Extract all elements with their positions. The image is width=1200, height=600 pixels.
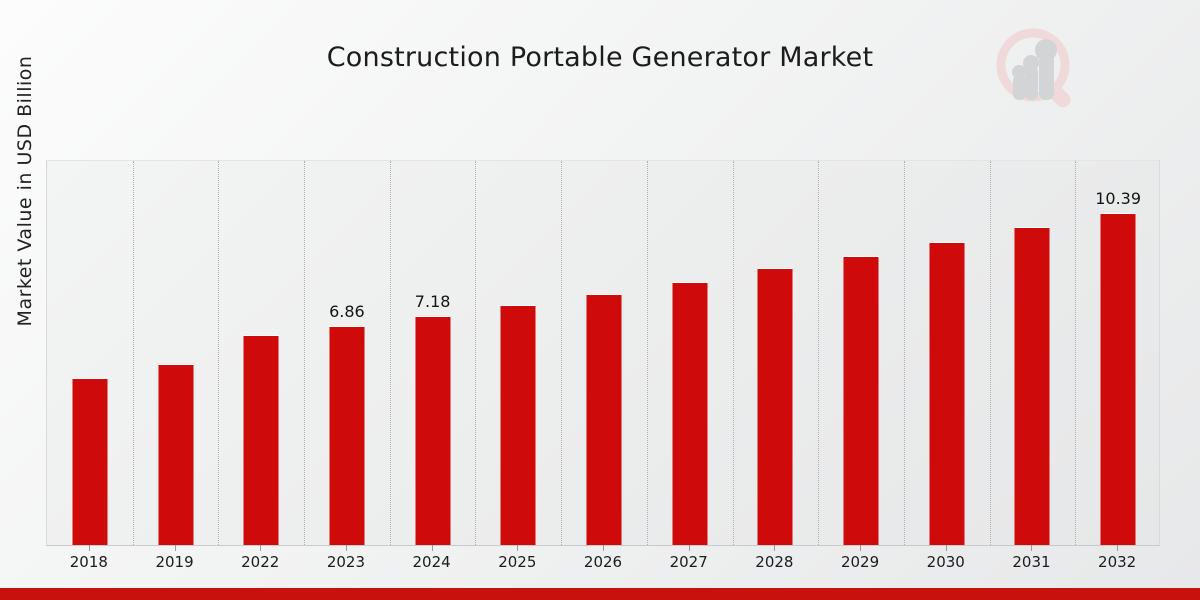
bar-group[interactable] — [133, 161, 219, 545]
bar-2025[interactable] — [501, 305, 536, 545]
x-tick — [517, 545, 518, 551]
x-tick — [89, 545, 90, 551]
x-axis-tick-label-2024: 2024 — [413, 553, 451, 571]
bar-2032[interactable] — [1101, 213, 1136, 545]
bar-2027[interactable] — [672, 282, 707, 545]
magnifier-handle-icon — [1044, 81, 1073, 110]
x-axis-tick-label-2026: 2026 — [584, 553, 622, 571]
x-tick — [1117, 545, 1118, 551]
bar-2031[interactable] — [1015, 227, 1050, 545]
x-tick — [260, 545, 261, 551]
bar-group[interactable] — [647, 161, 733, 545]
x-axis-tick-label-2028: 2028 — [755, 553, 793, 571]
bar-2030[interactable] — [929, 242, 964, 545]
x-axis-tick-label-2032: 2032 — [1098, 553, 1136, 571]
x-axis-tick-label-2029: 2029 — [841, 553, 879, 571]
bar-value-label-2024: 7.18 — [415, 292, 451, 311]
x-tick — [774, 545, 775, 551]
bar-group[interactable] — [904, 161, 990, 545]
x-axis-tick-label-2022: 2022 — [241, 553, 279, 571]
x-axis-tick-label-2025: 2025 — [498, 553, 536, 571]
bar-2022[interactable] — [244, 335, 279, 545]
x-axis-tick-label-2023: 2023 — [327, 553, 365, 571]
plot-area: 6.867.1810.39 — [46, 160, 1160, 545]
x-tick — [603, 545, 604, 551]
bar-group[interactable]: 6.86 — [304, 161, 390, 545]
bar-group[interactable] — [47, 161, 133, 545]
bar-2019[interactable] — [158, 364, 193, 545]
bar-group[interactable] — [733, 161, 819, 545]
bar-2028[interactable] — [758, 268, 793, 545]
bar-2018[interactable] — [72, 378, 107, 545]
footer-band — [0, 588, 1200, 600]
bar-2026[interactable] — [586, 294, 621, 545]
bar-value-label-2032: 10.39 — [1095, 189, 1141, 208]
x-tick — [432, 545, 433, 551]
bar-group[interactable] — [475, 161, 561, 545]
bar-2024[interactable] — [415, 316, 450, 545]
bar-group[interactable]: 10.39 — [1075, 161, 1161, 545]
x-tick — [1031, 545, 1032, 551]
bar-value-label-2023: 6.86 — [329, 302, 365, 321]
bar-group[interactable] — [218, 161, 304, 545]
bar-group[interactable] — [990, 161, 1076, 545]
x-tick — [346, 545, 347, 551]
y-axis-label: Market Value in USD Billion — [14, 0, 36, 386]
x-axis-tick-label-2031: 2031 — [1012, 553, 1050, 571]
x-axis-tick-label-2030: 2030 — [927, 553, 965, 571]
bar-group[interactable]: 7.18 — [390, 161, 476, 545]
x-axis-tick-label-2027: 2027 — [670, 553, 708, 571]
bar-group[interactable] — [818, 161, 904, 545]
page-title: Construction Portable Generator Market — [0, 42, 1200, 73]
x-tick — [175, 545, 176, 551]
logo-bar-1-icon — [1013, 75, 1026, 100]
x-axis-tick-label-2019: 2019 — [155, 553, 193, 571]
x-tick — [946, 545, 947, 551]
bar-2023[interactable] — [329, 326, 364, 545]
x-tick — [689, 545, 690, 551]
x-tick — [860, 545, 861, 551]
bar-group[interactable] — [561, 161, 647, 545]
bar-series: 6.867.1810.39 — [47, 161, 1159, 545]
x-axis-tick-label-2018: 2018 — [70, 553, 108, 571]
bar-2029[interactable] — [844, 256, 879, 545]
